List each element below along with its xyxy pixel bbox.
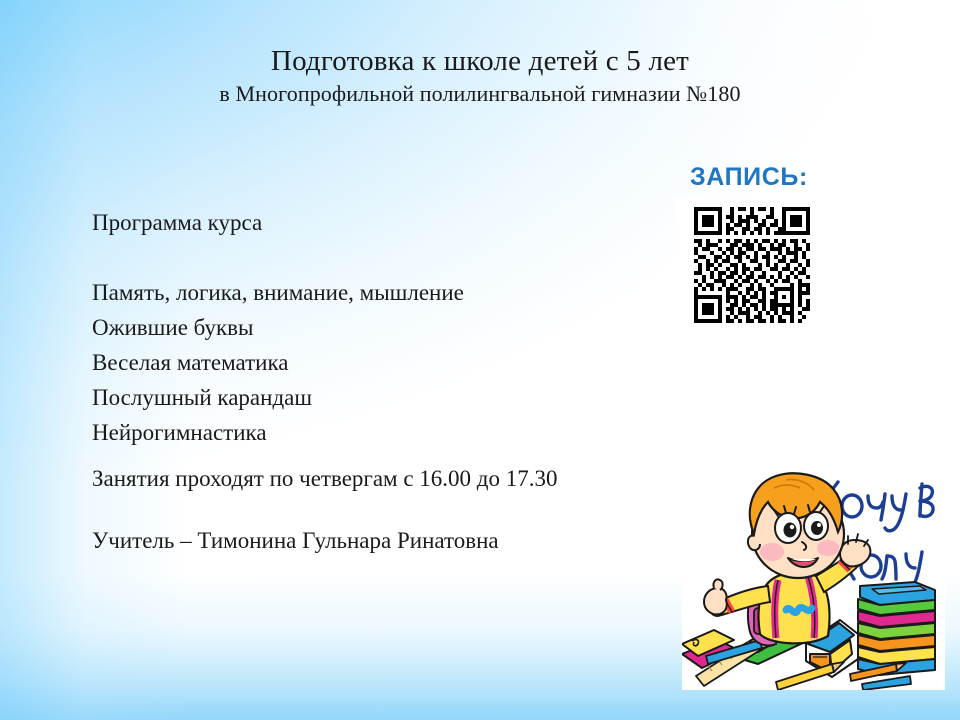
program-block: Программа курса Память, логика, внимание…: [92, 205, 464, 450]
schedule-text: Занятия проходят по четвергам с 16.00 до…: [92, 463, 558, 495]
qr-code-card[interactable]: [674, 197, 828, 343]
teacher-text: Учитель – Тимонина Гульнара Ринатовна: [92, 525, 499, 557]
book-stack: [858, 582, 935, 675]
title-secondary-line: в Многопрофильной полилингвальной гимназ…: [0, 80, 960, 108]
signup-heading: ЗАПИСЬ:: [690, 163, 808, 192]
program-item-5: Нейрогимнастика: [92, 415, 464, 450]
boy-wants-to-go-to-school-illustration: [682, 458, 945, 690]
slide-title: Подготовка к школе детей с 5 лет в Много…: [0, 44, 960, 108]
program-item-3: Веселая математика: [92, 345, 464, 380]
program-heading: Программа курса: [92, 205, 464, 240]
qr-code-icon[interactable]: [694, 207, 810, 323]
program-item-1: Память, логика, внимание, мышление: [92, 275, 464, 310]
program-item-2: Ожившие буквы: [92, 310, 464, 345]
program-item-4: Послушный карандаш: [92, 380, 464, 415]
slide-canvas: Подготовка к школе детей с 5 лет в Много…: [0, 0, 960, 720]
illustration-card: [682, 458, 945, 690]
title-primary-line: Подготовка к школе детей с 5 лет: [0, 44, 960, 78]
program-spacer: [92, 240, 464, 275]
